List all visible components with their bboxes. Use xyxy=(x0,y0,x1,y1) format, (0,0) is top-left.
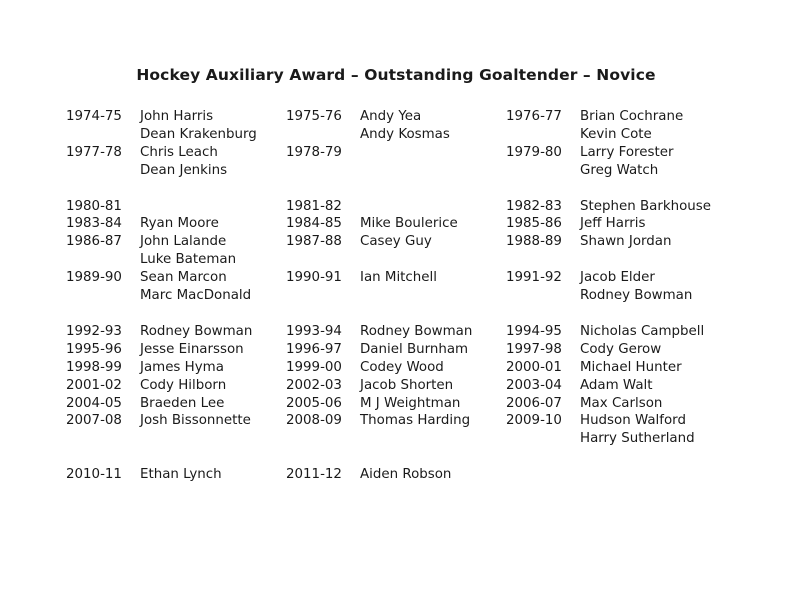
recipient-name-cell xyxy=(360,198,506,216)
table-row: 1992-93Rodney Bowman1993-94Rodney Bowman… xyxy=(66,323,750,341)
recipient-name-primary: Codey Wood xyxy=(360,360,444,375)
recipient-name-cell: Stephen Barkhouse xyxy=(580,198,750,216)
spacer-cell xyxy=(360,448,506,466)
recipient-name-primary: Cody Hilborn xyxy=(140,378,226,393)
recipient-name-cell: Max Carlson xyxy=(580,395,750,413)
season-year-cell: 2010-11 xyxy=(66,466,140,484)
recipient-name-cell: Chris LeachDean Jenkins xyxy=(140,144,286,180)
recipient-name-primary: Ian Mitchell xyxy=(360,270,437,285)
table-row: 2001-02Cody Hilborn2002-03Jacob Shorten2… xyxy=(66,377,750,395)
page-title: Hockey Auxiliary Award – Outstanding Goa… xyxy=(0,66,792,84)
recipient-name-primary: Rodney Bowman xyxy=(360,324,472,339)
season-year-cell: 2004-05 xyxy=(66,395,140,413)
season-year-cell: 1992-93 xyxy=(66,323,140,341)
season-year-cell: 1987-88 xyxy=(286,233,360,269)
recipient-name-secondary: Andy Kosmas xyxy=(360,126,506,144)
recipient-name-secondary xyxy=(360,430,506,448)
recipient-name-cell xyxy=(360,144,506,180)
recipient-name-primary: Thomas Harding xyxy=(360,413,470,428)
table-row: 1995-96Jesse Einarsson1996-97Daniel Burn… xyxy=(66,341,750,359)
season-year-cell: 1975-76 xyxy=(286,108,360,144)
season-year-cell xyxy=(506,466,580,484)
season-year-cell: 2001-02 xyxy=(66,377,140,395)
recipient-name-cell: John LalandeLuke Bateman xyxy=(140,233,286,269)
season-year-cell: 1980-81 xyxy=(66,198,140,216)
spacer-cell xyxy=(506,448,580,466)
season-year-cell: 1974-75 xyxy=(66,108,140,144)
recipient-name-primary: Jacob Elder xyxy=(580,270,655,285)
recipient-name-primary xyxy=(580,467,584,482)
table-row: 1989-90Sean MarconMarc MacDonald1990-91I… xyxy=(66,269,750,305)
recipient-name-secondary: Marc MacDonald xyxy=(140,287,286,305)
recipient-name-primary: Larry Forester xyxy=(580,145,673,160)
recipient-name-cell xyxy=(580,466,750,484)
recipient-name-primary: John Lalande xyxy=(140,234,226,249)
award-recipients-table: 1974-75John HarrisDean Krakenburg1975-76… xyxy=(66,108,750,484)
recipient-name-cell: Thomas Harding xyxy=(360,412,506,448)
season-year-cell: 1995-96 xyxy=(66,341,140,359)
spacer-cell xyxy=(580,305,750,323)
recipient-name-primary: Mike Boulerice xyxy=(360,216,458,231)
recipient-name-secondary: Rodney Bowman xyxy=(580,287,750,305)
recipient-name-primary: Casey Guy xyxy=(360,234,432,249)
recipient-name-cell: Shawn Jordan xyxy=(580,233,750,269)
recipient-name-primary: Sean Marcon xyxy=(140,270,227,285)
recipient-name-secondary xyxy=(360,251,506,269)
spacer-cell xyxy=(140,305,286,323)
season-year-cell: 2003-04 xyxy=(506,377,580,395)
spacer-cell xyxy=(580,180,750,198)
recipient-name-cell: Casey Guy xyxy=(360,233,506,269)
table-row: 1977-78Chris LeachDean Jenkins1978-79 19… xyxy=(66,144,750,180)
recipient-name-cell: Ryan Moore xyxy=(140,215,286,233)
recipient-name-cell: Andy YeaAndy Kosmas xyxy=(360,108,506,144)
recipient-name-cell: John HarrisDean Krakenburg xyxy=(140,108,286,144)
table-row: 2010-11Ethan Lynch2011-12Aiden Robson xyxy=(66,466,750,484)
season-year-cell: 1988-89 xyxy=(506,233,580,269)
spacer-cell xyxy=(66,305,140,323)
season-year-cell: 1986-87 xyxy=(66,233,140,269)
season-year-cell: 2009-10 xyxy=(506,412,580,448)
spacer-cell xyxy=(360,180,506,198)
season-year-cell: 1977-78 xyxy=(66,144,140,180)
recipient-name-primary: M J Weightman xyxy=(360,396,460,411)
recipient-name-primary: Jeff Harris xyxy=(580,216,645,231)
season-year-cell: 1989-90 xyxy=(66,269,140,305)
recipient-name-cell: Codey Wood xyxy=(360,359,506,377)
recipient-name-primary: Max Carlson xyxy=(580,396,662,411)
recipient-name-secondary: Greg Watch xyxy=(580,162,750,180)
season-year-cell: 1993-94 xyxy=(286,323,360,341)
recipient-name-primary: Josh Bissonnette xyxy=(140,413,251,428)
season-year-cell: 1981-82 xyxy=(286,198,360,216)
recipient-name-secondary xyxy=(580,251,750,269)
recipient-name-secondary: Luke Bateman xyxy=(140,251,286,269)
season-year-cell: 1990-91 xyxy=(286,269,360,305)
season-year-cell: 2011-12 xyxy=(286,466,360,484)
recipient-name-primary: John Harris xyxy=(140,109,213,124)
season-year-cell: 1983-84 xyxy=(66,215,140,233)
recipient-name-primary: Jacob Shorten xyxy=(360,378,453,393)
recipient-name-cell: Rodney Bowman xyxy=(140,323,286,341)
season-year-cell: 1999-00 xyxy=(286,359,360,377)
recipient-name-cell xyxy=(140,198,286,216)
season-year-cell: 1982-83 xyxy=(506,198,580,216)
season-year-cell: 2007-08 xyxy=(66,412,140,448)
recipient-name-cell: Braeden Lee xyxy=(140,395,286,413)
table-row: 1983-84Ryan Moore1984-85Mike Boulerice19… xyxy=(66,215,750,233)
season-year-cell: 1991-92 xyxy=(506,269,580,305)
recipient-name-cell: Mike Boulerice xyxy=(360,215,506,233)
recipient-name-primary: Hudson Walford xyxy=(580,413,686,428)
recipient-name-cell: M J Weightman xyxy=(360,395,506,413)
recipient-name-cell: Josh Bissonnette xyxy=(140,412,286,448)
season-year-cell: 2006-07 xyxy=(506,395,580,413)
spacer-cell xyxy=(140,448,286,466)
recipient-name-primary xyxy=(360,199,364,214)
table-spacer-row xyxy=(66,305,750,323)
recipient-name-primary: Rodney Bowman xyxy=(140,324,252,339)
spacer-cell xyxy=(580,448,750,466)
recipient-name-cell: James Hyma xyxy=(140,359,286,377)
recipient-name-cell: Jesse Einarsson xyxy=(140,341,286,359)
table-row: 1974-75John HarrisDean Krakenburg1975-76… xyxy=(66,108,750,144)
recipient-name-cell: Ethan Lynch xyxy=(140,466,286,484)
recipient-name-cell: Adam Walt xyxy=(580,377,750,395)
table-spacer-row xyxy=(66,448,750,466)
season-year-cell: 1998-99 xyxy=(66,359,140,377)
recipient-name-cell: Cody Gerow xyxy=(580,341,750,359)
recipient-name-primary: Ethan Lynch xyxy=(140,467,222,482)
table-row: 1986-87John LalandeLuke Bateman1987-88Ca… xyxy=(66,233,750,269)
recipient-name-primary: Brian Cochrane xyxy=(580,109,683,124)
document-page: Hockey Auxiliary Award – Outstanding Goa… xyxy=(0,0,792,612)
recipient-name-primary: Michael Hunter xyxy=(580,360,682,375)
recipient-name-primary: Chris Leach xyxy=(140,145,218,160)
recipient-name-secondary xyxy=(360,162,506,180)
recipient-name-secondary: Dean Jenkins xyxy=(140,162,286,180)
season-year-cell: 2008-09 xyxy=(286,412,360,448)
season-year-cell: 2002-03 xyxy=(286,377,360,395)
recipient-name-primary: Daniel Burnham xyxy=(360,342,468,357)
recipient-name-cell: Ian Mitchell xyxy=(360,269,506,305)
recipient-name-primary: Andy Yea xyxy=(360,109,421,124)
recipient-name-primary: Shawn Jordan xyxy=(580,234,672,249)
spacer-cell xyxy=(140,180,286,198)
recipient-name-primary: Adam Walt xyxy=(580,378,653,393)
recipient-name-primary: James Hyma xyxy=(140,360,224,375)
season-year-cell: 1979-80 xyxy=(506,144,580,180)
award-table-body: 1974-75John HarrisDean Krakenburg1975-76… xyxy=(66,108,750,484)
table-row: 2007-08Josh Bissonnette 2008-09Thomas Ha… xyxy=(66,412,750,448)
season-year-cell: 1997-98 xyxy=(506,341,580,359)
season-year-cell: 2005-06 xyxy=(286,395,360,413)
recipient-name-cell: Cody Hilborn xyxy=(140,377,286,395)
season-year-cell: 1984-85 xyxy=(286,215,360,233)
recipient-name-cell: Sean MarconMarc MacDonald xyxy=(140,269,286,305)
recipient-name-cell: Brian CochraneKevin Cote xyxy=(580,108,750,144)
recipient-name-cell: Hudson WalfordHarry Sutherland xyxy=(580,412,750,448)
recipient-name-cell: Daniel Burnham xyxy=(360,341,506,359)
recipient-name-secondary: Harry Sutherland xyxy=(580,430,750,448)
recipient-name-primary xyxy=(360,145,364,160)
recipient-name-primary: Nicholas Campbell xyxy=(580,324,704,339)
recipient-name-secondary: Kevin Cote xyxy=(580,126,750,144)
spacer-cell xyxy=(66,180,140,198)
recipient-name-cell: Jacob ElderRodney Bowman xyxy=(580,269,750,305)
recipient-name-cell: Jeff Harris xyxy=(580,215,750,233)
season-year-cell: 1994-95 xyxy=(506,323,580,341)
season-year-cell: 1996-97 xyxy=(286,341,360,359)
recipient-name-primary: Stephen Barkhouse xyxy=(580,199,711,214)
recipient-name-secondary xyxy=(360,287,506,305)
table-row: 1998-99James Hyma1999-00Codey Wood2000-0… xyxy=(66,359,750,377)
recipient-name-primary: Ryan Moore xyxy=(140,216,219,231)
recipient-name-secondary: Dean Krakenburg xyxy=(140,126,286,144)
spacer-cell xyxy=(506,305,580,323)
spacer-cell xyxy=(286,305,360,323)
recipient-name-primary: Braeden Lee xyxy=(140,396,224,411)
spacer-cell xyxy=(506,180,580,198)
spacer-cell xyxy=(360,305,506,323)
recipient-name-cell: Aiden Robson xyxy=(360,466,506,484)
recipient-name-cell: Nicholas Campbell xyxy=(580,323,750,341)
recipient-name-cell: Michael Hunter xyxy=(580,359,750,377)
season-year-cell: 2000-01 xyxy=(506,359,580,377)
recipient-name-cell: Jacob Shorten xyxy=(360,377,506,395)
recipient-name-cell: Larry ForesterGreg Watch xyxy=(580,144,750,180)
recipient-name-primary: Cody Gerow xyxy=(580,342,661,357)
table-row: 1980-81 1981-82 1982-83Stephen Barkhouse xyxy=(66,198,750,216)
season-year-cell: 1976-77 xyxy=(506,108,580,144)
recipient-name-cell: Rodney Bowman xyxy=(360,323,506,341)
table-spacer-row xyxy=(66,180,750,198)
spacer-cell xyxy=(286,448,360,466)
recipient-name-secondary xyxy=(140,430,286,448)
recipient-name-primary xyxy=(140,199,144,214)
table-row: 2004-05Braeden Lee2005-06M J Weightman20… xyxy=(66,395,750,413)
recipient-name-primary: Aiden Robson xyxy=(360,467,451,482)
spacer-cell xyxy=(66,448,140,466)
spacer-cell xyxy=(286,180,360,198)
season-year-cell: 1985-86 xyxy=(506,215,580,233)
recipient-name-primary: Jesse Einarsson xyxy=(140,342,244,357)
season-year-cell: 1978-79 xyxy=(286,144,360,180)
